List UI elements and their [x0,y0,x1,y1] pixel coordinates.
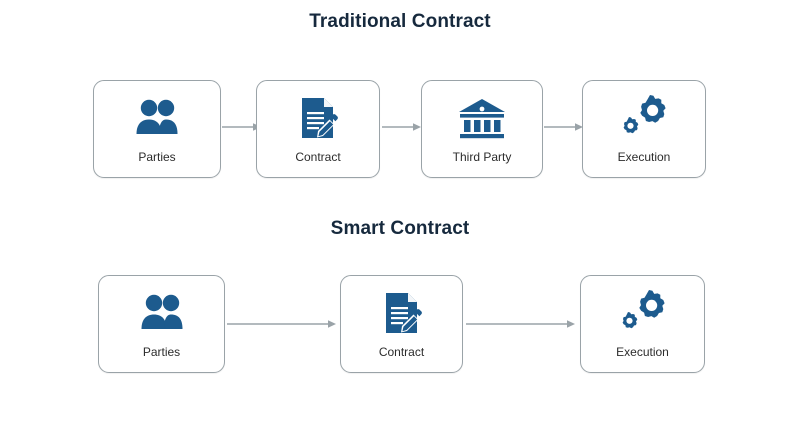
node-smart-execution[interactable]: Execution [580,275,705,373]
section-title-traditional: Traditional Contract [0,11,800,33]
bank-building-icon [457,87,507,149]
node-traditional-parties[interactable]: Parties [93,80,221,178]
gears-icon [617,282,669,344]
node-smart-parties[interactable]: Parties [98,275,225,373]
node-label: Execution [616,346,669,359]
arrow-parties-to-contract-smart [227,319,337,329]
node-traditional-contract[interactable]: Contract [256,80,380,178]
people-icon [135,87,179,149]
node-label: Third Party [453,151,512,164]
node-label: Execution [618,151,671,164]
document-pencil-icon [296,87,340,149]
people-icon [140,282,184,344]
node-label: Parties [138,151,175,164]
arrow-contract-to-execution-smart [466,319,576,329]
section-title-smart: Smart Contract [0,218,800,240]
document-pencil-icon [380,282,424,344]
arrow-contract-to-third-party [382,122,422,132]
arrow-third-party-to-execution [544,122,584,132]
node-traditional-execution[interactable]: Execution [582,80,706,178]
node-label: Parties [143,346,180,359]
gears-icon [618,87,670,149]
diagram-canvas: Traditional Contract Parties [0,0,800,428]
node-label: Contract [295,151,340,164]
node-traditional-third-party[interactable]: Third Party [421,80,543,178]
node-label: Contract [379,346,424,359]
node-smart-contract[interactable]: Contract [340,275,463,373]
